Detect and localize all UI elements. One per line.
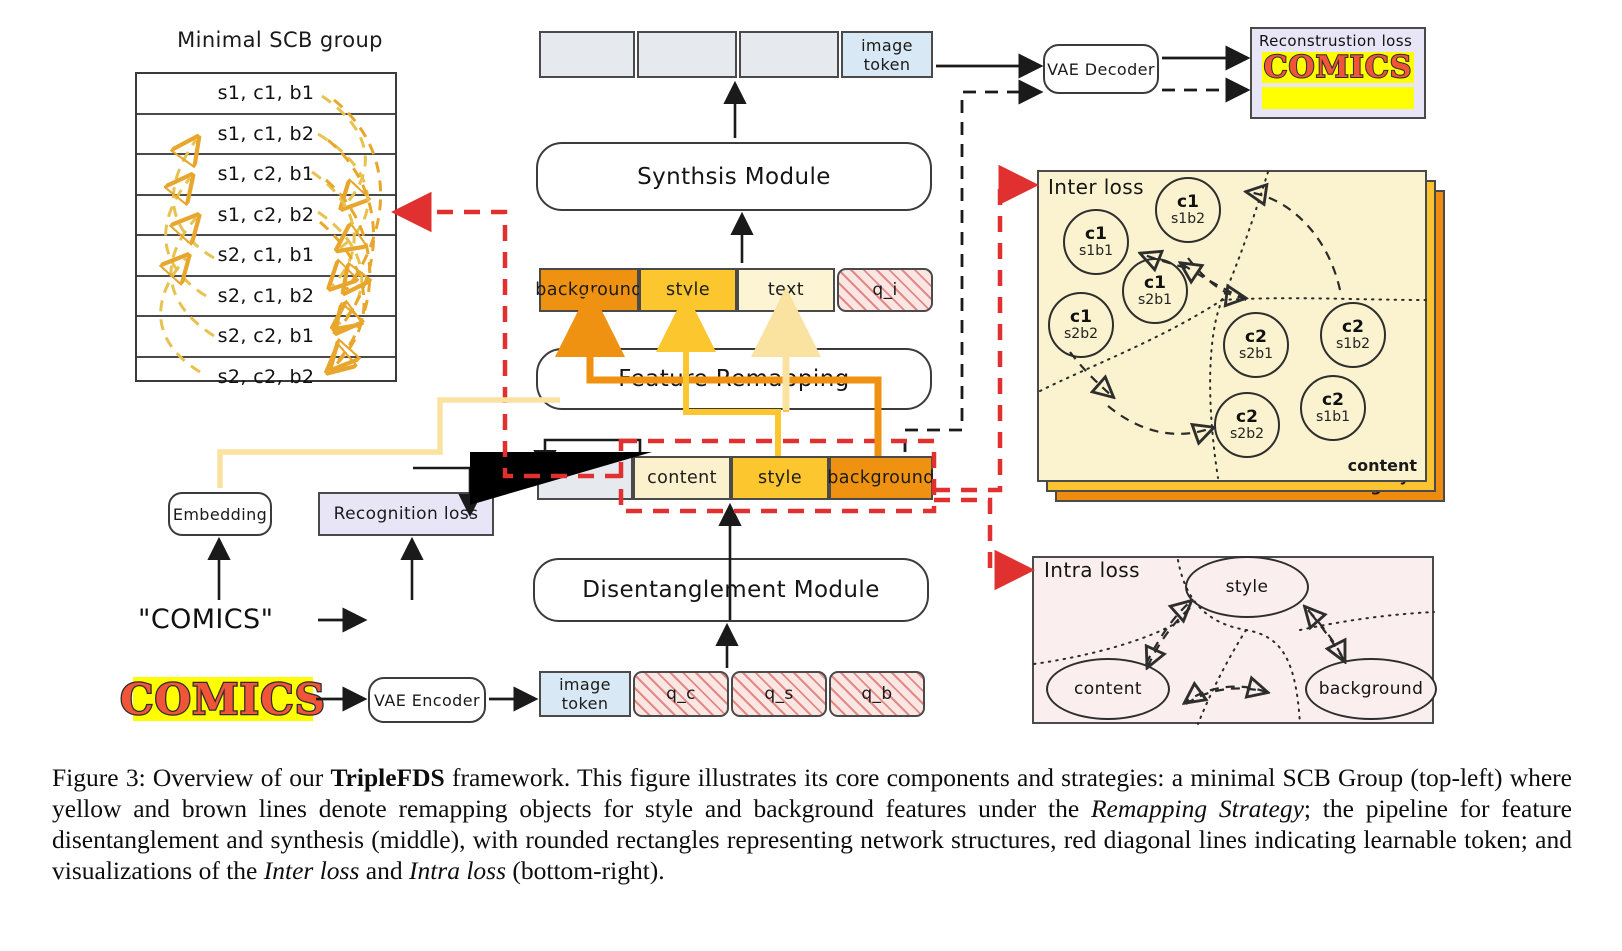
feature-background-in: background xyxy=(829,456,933,500)
reconstructed-comics-image: COMICS xyxy=(1262,52,1414,83)
feature-background-out: background xyxy=(539,268,639,312)
cluster-style-bg-id: s2b2 xyxy=(1230,427,1264,442)
caption-prefix: Figure 3: Overview of our xyxy=(52,763,330,792)
output-token-slot xyxy=(637,31,737,78)
vae-encoder-label: VAE Encoder xyxy=(374,691,480,710)
caption-italic-intra: Intra loss xyxy=(409,856,506,885)
input-image-token: image token xyxy=(539,671,631,717)
scb-row: s1, c2, b1 xyxy=(137,155,395,196)
figure-canvas: Minimal SCB group s1, c1, b1 s1, c1, b2 … xyxy=(0,0,1622,951)
cluster-content-id: c1 xyxy=(1144,275,1166,293)
token-q-s: q_s xyxy=(731,671,827,717)
token-q-c: q_c xyxy=(633,671,729,717)
scb-row: s1, c1, b1 xyxy=(137,74,395,115)
inter-cluster-node: c1 s1b1 xyxy=(1063,209,1129,275)
caption-italic-remapping: Remapping Strategy xyxy=(1091,794,1304,823)
reconstruction-blank-strip xyxy=(1262,87,1414,109)
scb-row: s1, c2, b2 xyxy=(137,196,395,237)
reconstruction-loss-panel: Reconstrustion loss COMICS xyxy=(1250,27,1426,119)
feature-text-out: text xyxy=(737,268,835,312)
feature-style-in: style xyxy=(731,456,829,500)
cluster-content-id: c2 xyxy=(1322,392,1344,410)
input-token-slot xyxy=(537,456,633,500)
embedding-node[interactable]: Embedding xyxy=(168,492,272,536)
inter-cluster-node: c2 s1b1 xyxy=(1300,375,1366,441)
cluster-content-id: c1 xyxy=(1085,226,1107,244)
disentanglement-module[interactable]: Disentanglement Module xyxy=(533,558,929,622)
cluster-content-id: c2 xyxy=(1245,329,1267,347)
cluster-style-bg-id: s2b1 xyxy=(1239,347,1273,362)
vae-decoder-label: VAE Decoder xyxy=(1047,60,1155,79)
output-image-token: image token xyxy=(841,31,933,78)
caption-part5: (bottom-right). xyxy=(506,856,665,885)
output-token-slot xyxy=(539,31,635,78)
token-q-b: q_b xyxy=(829,671,925,717)
synthesis-module-label: Synthsis Module xyxy=(637,164,831,190)
recognition-loss-label: Recognition loss xyxy=(334,504,479,524)
feature-content-in: content xyxy=(633,456,731,500)
vae-decoder-node[interactable]: VAE Decoder xyxy=(1043,44,1159,94)
intra-loss-label: Intra loss xyxy=(1044,558,1140,582)
input-comics-image: COMICS xyxy=(133,677,313,721)
cluster-content-id: c2 xyxy=(1342,319,1364,337)
cluster-content-id: c1 xyxy=(1177,194,1199,212)
intra-node-background: background xyxy=(1305,658,1437,720)
feature-style-out: style xyxy=(639,268,737,312)
inter-cluster-node: c2 s1b2 xyxy=(1320,302,1386,368)
layer-tag-content: content xyxy=(1348,456,1417,475)
inter-cluster-node: c1 s2b2 xyxy=(1048,292,1114,358)
recognition-loss-node: Recognition loss xyxy=(318,492,494,536)
cluster-style-bg-id: s1b1 xyxy=(1316,410,1350,425)
vae-encoder-node[interactable]: VAE Encoder xyxy=(368,677,486,723)
inter-cluster-node: c1 s1b2 xyxy=(1155,177,1221,243)
input-comics-label: COMICS xyxy=(120,675,326,724)
embedding-label: Embedding xyxy=(173,505,267,524)
inter-cluster-node: c1 s2b1 xyxy=(1122,258,1188,324)
input-text-string: "COMICS" xyxy=(138,604,368,635)
feature-remapping-label: Feature Remapping xyxy=(618,366,849,392)
cluster-style-bg-id: s1b2 xyxy=(1336,337,1370,352)
cluster-style-bg-id: s1b2 xyxy=(1171,212,1205,227)
caption-model-name: TripleFDS xyxy=(330,763,444,792)
token-q-i: q_i xyxy=(837,268,933,312)
reconstructed-comics-label: COMICS xyxy=(1264,50,1413,85)
synthesis-module[interactable]: Synthsis Module xyxy=(536,142,932,211)
caption-italic-inter: Inter loss xyxy=(264,856,360,885)
scb-row: s2, c2, b1 xyxy=(137,317,395,358)
scb-group-table: s1, c1, b1 s1, c1, b2 s1, c2, b1 s1, c2,… xyxy=(135,72,397,382)
cluster-style-bg-id: s1b1 xyxy=(1079,244,1113,259)
cluster-style-bg-id: s2b2 xyxy=(1064,327,1098,342)
reconstruction-loss-title: Reconstrustion loss xyxy=(1252,29,1424,50)
figure-caption: Figure 3: Overview of our TripleFDS fram… xyxy=(52,762,1572,886)
output-token-slot xyxy=(739,31,839,78)
inter-cluster-node: c2 s2b2 xyxy=(1214,392,1280,458)
intra-node-content: content xyxy=(1046,658,1170,720)
scb-row: s2, c1, b1 xyxy=(137,236,395,277)
cluster-style-bg-id: s2b1 xyxy=(1138,293,1172,308)
inter-cluster-node: c2 s2b1 xyxy=(1223,312,1289,378)
cluster-content-id: c1 xyxy=(1070,309,1092,327)
feature-remapping-module[interactable]: Feature Remapping xyxy=(536,348,932,410)
inter-loss-label: Inter loss xyxy=(1048,175,1144,199)
scb-row: s2, c2, b2 xyxy=(137,358,395,397)
caption-part4: and xyxy=(359,856,409,885)
scb-group-title: Minimal SCB group xyxy=(150,28,410,52)
intra-node-style: style xyxy=(1185,556,1309,618)
disentanglement-module-label: Disentanglement Module xyxy=(582,577,880,603)
cluster-content-id: c2 xyxy=(1236,409,1258,427)
scb-row: s1, c1, b2 xyxy=(137,115,395,156)
scb-row: s2, c1, b2 xyxy=(137,277,395,318)
